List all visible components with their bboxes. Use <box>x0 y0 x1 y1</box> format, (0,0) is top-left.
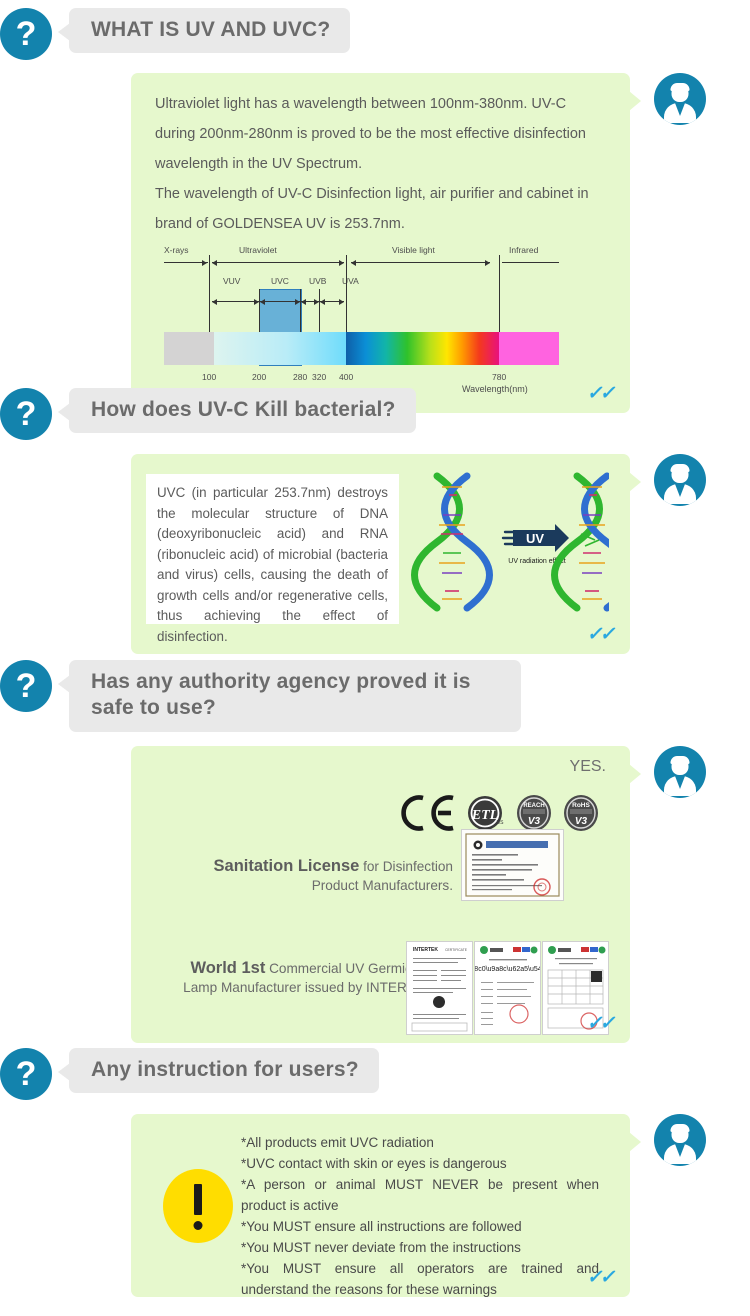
band-axis-uvc <box>260 301 300 302</box>
svg-text:US: US <box>497 820 505 826</box>
avatar-collar <box>675 1144 685 1157</box>
spectrum-band-infrared <box>499 332 559 365</box>
dna-svg: UV UV radiation effect <box>409 468 609 628</box>
dna-damage-diagram: UV UV radiation effect <box>409 468 609 628</box>
question-mark-glyph: ? <box>16 669 37 703</box>
svg-text:\u68c0\u9a8c\u62a5\u544a: \u68c0\u9a8c\u62a5\u544a <box>475 966 540 973</box>
svg-text:V3: V3 <box>575 816 588 827</box>
band-label-uva: UVA <box>342 276 359 286</box>
warning-list: *All products emit UVC radiation *UVC co… <box>241 1132 599 1300</box>
warning-item: *All products emit UVC radiation <box>241 1132 599 1153</box>
explanation-text: UVC (in particular 253.7nm) destroys the… <box>157 483 388 647</box>
arrow-head <box>339 299 344 305</box>
warning-item: *You MUST never deviate from the instruc… <box>241 1237 599 1258</box>
tick-label-780: 780 <box>492 372 506 382</box>
band-label-vuv: VUV <box>223 276 240 286</box>
tick-label-320: 320 <box>312 372 326 382</box>
expert-avatar <box>654 1114 706 1166</box>
arrow-head <box>301 299 306 305</box>
question-text: Has any authority agency proved it is sa… <box>91 669 501 722</box>
axis-segment-visible <box>351 262 490 263</box>
answer-yes-text: YES. <box>570 758 606 776</box>
region-label-uv: Ultraviolet <box>239 245 277 255</box>
avatar-head <box>672 84 689 102</box>
rohs-mark-icon: RoHS V3 <box>562 793 600 833</box>
arrow-head <box>320 299 325 305</box>
ce-mark-icon <box>399 793 457 833</box>
uv-arrow: UV <box>503 524 569 552</box>
arrow-head <box>351 260 356 266</box>
avatar-collar <box>675 103 685 116</box>
expert-avatar <box>654 746 706 798</box>
warning-icon <box>163 1169 233 1243</box>
read-receipt-icon: ✓✓ <box>586 623 617 646</box>
paragraph-line: wavelength in the UV Spectrum. <box>155 149 612 179</box>
question-bubble: Has any authority agency proved it is sa… <box>69 660 521 732</box>
question-row: ? Has any authority agency proved it is … <box>0 660 750 732</box>
section-authority-proof: ? Has any authority agency proved it is … <box>0 660 750 1043</box>
axis-segment-uv <box>212 262 344 263</box>
question-bubble: WHAT IS UV AND UVC? <box>69 8 350 53</box>
svg-text:CERTIFICATE: CERTIFICATE <box>445 948 468 952</box>
expert-avatar <box>654 454 706 506</box>
tick-label-400: 400 <box>339 372 353 382</box>
reach-mark-icon: REACH V3 <box>515 793 553 833</box>
question-mark-icon: ? <box>0 660 52 712</box>
question-row: ? WHAT IS UV AND UVC? <box>0 8 750 60</box>
question-bubble: Any instruction for users? <box>69 1048 379 1093</box>
read-receipt-icon: ✓✓ <box>586 1012 617 1035</box>
warning-item: *You MUST ensure all operators are train… <box>241 1258 599 1300</box>
axis-segment-infrared <box>502 262 559 263</box>
sanitation-license-strong: Sanitation License <box>214 857 360 875</box>
avatar-collar <box>675 776 685 789</box>
section-how-uvc-kills: ? How does UV-C Kill bacterial? UVC (in … <box>0 388 750 654</box>
answer-row: Ultraviolet light has a wavelength betwe… <box>131 73 750 413</box>
warning-item: *A person or animal MUST NEVER be presen… <box>241 1174 599 1216</box>
svg-text:V3: V3 <box>528 816 541 827</box>
avatar-collar <box>675 484 685 497</box>
question-mark-glyph: ? <box>16 397 37 431</box>
uv-arrow-label: UV <box>526 531 544 546</box>
band-label-uvb: UVB <box>309 276 326 286</box>
intertek-certificate-2: \u68c0\u9a8c\u62a5\u544a <box>474 941 541 1035</box>
warning-item: *You MUST ensure all instructions are fo… <box>241 1216 599 1237</box>
answer-row: UVC (in particular 253.7nm) destroys the… <box>131 454 750 654</box>
arrow-head <box>202 260 207 266</box>
question-row: ? Any instruction for users? <box>0 1048 750 1100</box>
arrow-head <box>212 299 217 305</box>
svg-text:INTERTEK: INTERTEK <box>413 947 438 953</box>
answer-bubble: YES. ETL US <box>131 746 630 1043</box>
dna-helix-intact <box>415 476 490 608</box>
intertek-claim-strong: World 1st <box>190 959 265 977</box>
svg-text:RoHS: RoHS <box>572 802 590 809</box>
certification-marks-row: ETL US REACH V3 RoHS <box>399 793 600 833</box>
arrow-head <box>485 260 490 266</box>
paragraph-line: Ultraviolet light has a wavelength betwe… <box>155 89 612 119</box>
question-text: WHAT IS UV AND UVC? <box>91 17 330 43</box>
question-text: How does UV-C Kill bacterial? <box>91 397 396 423</box>
tick-label-200: 200 <box>252 372 266 382</box>
answer-paragraph: Ultraviolet light has a wavelength betwe… <box>155 89 612 239</box>
question-text: Any instruction for users? <box>91 1057 359 1083</box>
explanation-box: UVC (in particular 253.7nm) destroys the… <box>146 474 399 624</box>
section-what-is-uv: ? WHAT IS UV AND UVC? Ultraviolet light … <box>0 8 750 413</box>
expert-avatar <box>654 73 706 125</box>
question-mark-icon: ? <box>0 1048 52 1100</box>
spectrum-band-visible <box>346 332 499 365</box>
question-row: ? How does UV-C Kill bacterial? <box>0 388 750 440</box>
answer-bubble: UVC (in particular 253.7nm) destroys the… <box>131 454 630 654</box>
answer-row: *All products emit UVC radiation *UVC co… <box>131 1114 750 1297</box>
question-mark-icon: ? <box>0 8 52 60</box>
region-label-visible: Visible light <box>392 245 435 255</box>
uv-spectrum-chart: X-rays Ultraviolet Visible light Infrare… <box>162 245 562 395</box>
answer-bubble: Ultraviolet light has a wavelength betwe… <box>131 73 630 413</box>
arrow-head <box>212 260 217 266</box>
arrow-head <box>339 260 344 266</box>
faq-infographic: ? WHAT IS UV AND UVC? Ultraviolet light … <box>0 0 750 1316</box>
spectrum-band-uv <box>214 332 346 365</box>
band-label-uvc: UVC <box>271 276 289 286</box>
certificate-thumbnail <box>462 830 563 900</box>
question-bubble: How does UV-C Kill bacterial? <box>69 388 416 433</box>
question-mark-glyph: ? <box>16 1057 37 1091</box>
question-mark-icon: ? <box>0 388 52 440</box>
paragraph-line: during 200nm-280nm is proved to be the m… <box>155 119 612 149</box>
region-label-xrays: X-rays <box>164 245 189 255</box>
avatar-head <box>672 1125 689 1143</box>
warning-exclamation-dot <box>194 1221 203 1230</box>
intertek-certificate-1: INTERTEK CERTIFICATE <box>406 941 473 1035</box>
svg-text:REACH: REACH <box>523 803 544 809</box>
spectrum-band-xray <box>164 332 214 365</box>
answer-row: YES. ETL US <box>131 746 750 1043</box>
intertek-claim-caption: World 1st Commercial UV Germicidal Lamp … <box>171 958 433 998</box>
sanitation-license-caption: Sanitation License for Disinfection Prod… <box>191 856 453 896</box>
certificate-thumbnail: \u68c0\u9a8c\u62a5\u544a <box>475 942 540 1034</box>
region-label-infrared: Infrared <box>509 245 538 255</box>
paragraph-line: The wavelength of UV-C Disinfection ligh… <box>155 179 612 209</box>
tick-label-280: 280 <box>293 372 307 382</box>
arrow-head <box>260 299 265 305</box>
tick-label-100: 100 <box>202 372 216 382</box>
warning-item: *UVC contact with skin or eyes is danger… <box>241 1153 599 1174</box>
question-mark-glyph: ? <box>16 17 37 51</box>
paragraph-line: brand of GOLDENSEA UV is 253.7nm. <box>155 209 612 239</box>
etl-mark-icon: ETL US <box>466 793 506 833</box>
read-receipt-icon: ✓✓ <box>586 1266 617 1289</box>
sanitation-license-image <box>461 829 564 901</box>
answer-bubble: *All products emit UVC radiation *UVC co… <box>131 1114 630 1297</box>
avatar-head <box>672 757 689 775</box>
section-user-instructions: ? Any instruction for users? *All produc… <box>0 1048 750 1297</box>
warning-exclamation-bar <box>194 1184 202 1215</box>
certificate-thumbnail: INTERTEK CERTIFICATE <box>407 942 472 1034</box>
avatar-head <box>672 465 689 483</box>
band-axis-vuv <box>212 301 259 302</box>
svg-text:ETL: ETL <box>471 808 498 823</box>
